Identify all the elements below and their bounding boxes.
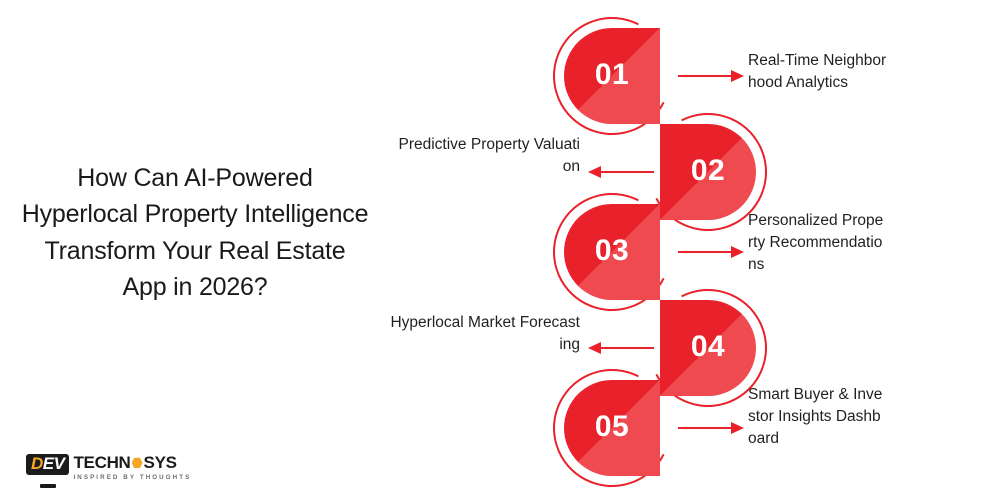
arrow-shaft (678, 251, 732, 253)
step-number: 04 (691, 330, 725, 364)
logo-wordmark-group: TECHN SYS INSPIRED BY THOUGHTS (73, 454, 191, 481)
arrow-shaft (600, 171, 654, 173)
arrow-head (731, 246, 744, 258)
process-flow-diagram: 01 Real-Time Neighborhood Analytics 02 P… (0, 0, 1000, 500)
arrow-left-icon (588, 165, 654, 179)
logo-word-before: TECHN (73, 454, 130, 472)
step-badge-04[interactable]: 04 (660, 300, 756, 396)
step-number: 05 (595, 410, 629, 444)
logo-stand (40, 484, 56, 488)
arrow-right-icon (678, 421, 744, 435)
logo-tagline: INSPIRED BY THOUGHTS (73, 474, 191, 481)
step-number-badge: 04 (660, 300, 756, 396)
logo-mark-dev: DEV (26, 454, 69, 475)
arrow-head (731, 422, 744, 434)
step-number-badge: 05 (564, 380, 660, 476)
arrow-head (731, 70, 744, 82)
step-label-04: Hyperlocal Market Forecasting (390, 312, 580, 356)
step-number-badge: 01 (564, 28, 660, 124)
arrow-shaft (678, 75, 732, 77)
step-number-badge: 02 (660, 124, 756, 220)
logo-wordmark: TECHN SYS (73, 454, 191, 472)
arrow-shaft (678, 427, 732, 429)
step-number: 03 (595, 234, 629, 268)
logo-mark-letter-d: D (31, 454, 43, 473)
step-label-01: Real-Time Neighborhood Analytics (748, 50, 888, 94)
step-badge-02[interactable]: 02 (660, 124, 756, 220)
flow-step-03: 03 Personalized Property Recommendations (0, 204, 1000, 300)
arrow-left-icon (588, 341, 654, 355)
arrow-right-icon (678, 69, 744, 83)
step-badge-05[interactable]: 05 (564, 380, 660, 476)
arrow-shaft (600, 347, 654, 349)
arrow-head (588, 342, 601, 354)
step-number: 01 (595, 58, 629, 92)
step-number: 02 (691, 154, 725, 188)
arrow-right-icon (678, 245, 744, 259)
step-badge-01[interactable]: 01 (564, 28, 660, 124)
step-label-03: Personalized Property Recommendations (748, 210, 888, 276)
flow-step-01: 01 Real-Time Neighborhood Analytics (0, 28, 1000, 124)
company-logo: DEV TECHN SYS INSPIRED BY THOUGHTS (26, 454, 191, 488)
step-badge-03[interactable]: 03 (564, 204, 660, 300)
hexagon-icon (132, 457, 143, 468)
logo-word-after: SYS (144, 454, 177, 472)
arrow-head (588, 166, 601, 178)
logo-mark-letters-ev: EV (43, 454, 65, 473)
step-number-badge: 03 (564, 204, 660, 300)
step-label-02: Predictive Property Valuation (390, 134, 580, 178)
step-label-05: Smart Buyer & Investor Insights Dashboar… (748, 384, 888, 450)
